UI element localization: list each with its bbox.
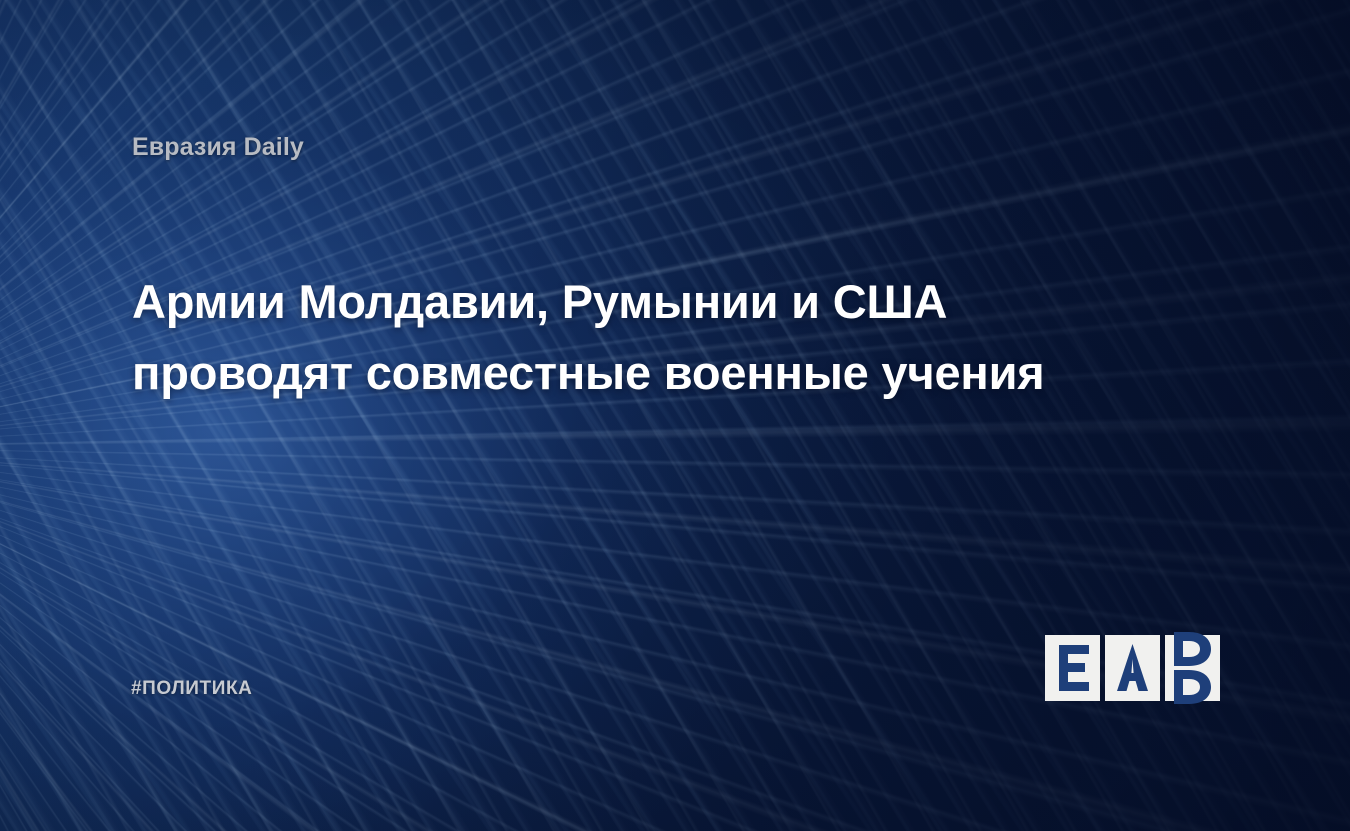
- logo-tile-e: [1045, 629, 1100, 707]
- ead-logo[interactable]: [1045, 629, 1221, 707]
- logo-tile-a: [1105, 629, 1160, 707]
- logo-letter-d-glyph: [1165, 629, 1220, 707]
- logo-tile-d: [1165, 629, 1220, 707]
- brand-name: Евразия Daily: [132, 133, 304, 162]
- headline-line-1: Армии Молдавии, Румынии и США: [132, 266, 1222, 337]
- logo-letter-a-glyph: [1105, 629, 1160, 707]
- headline-line-2: проводят совместные военные учения: [132, 337, 1222, 408]
- card-content: Евразия Daily Армии Молдавии, Румынии и …: [0, 0, 1350, 831]
- category-hashtag[interactable]: #ПОЛИТИКА: [131, 678, 253, 700]
- headline: Армии Молдавии, Румынии и США проводят с…: [132, 266, 1222, 409]
- news-card: Евразия Daily Армии Молдавии, Румынии и …: [0, 0, 1350, 831]
- logo-letter-e-glyph: [1045, 629, 1100, 707]
